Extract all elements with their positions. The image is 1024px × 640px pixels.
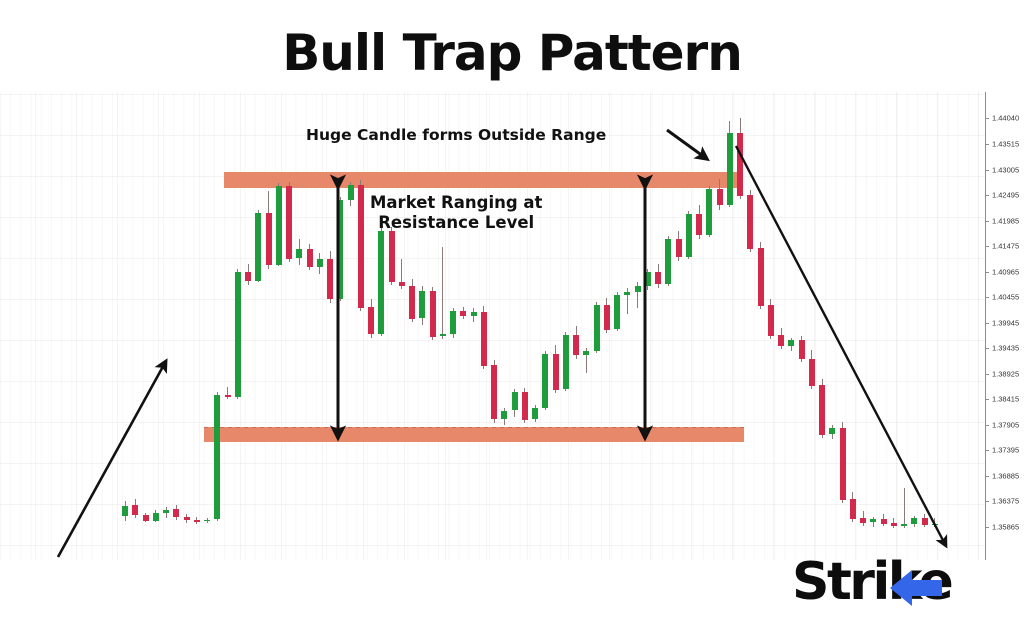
axis-tick [985, 374, 989, 375]
candlestick [419, 92, 425, 560]
axis-tick-label: 1.42495 [992, 191, 1019, 200]
candlestick [214, 92, 220, 560]
candlestick [901, 92, 907, 560]
candlestick [758, 92, 764, 560]
axis-tick-label: 1.40455 [992, 293, 1019, 302]
candlestick-chart [0, 92, 985, 560]
brand-logo[interactable]: Strike [792, 552, 992, 614]
candlestick [255, 92, 261, 560]
candlestick [573, 92, 579, 560]
candle-body-bearish [368, 307, 374, 334]
candle-body-bearish [604, 305, 610, 330]
axis-tick [985, 195, 989, 196]
candlestick [799, 92, 805, 560]
candle-body-bearish [522, 392, 528, 420]
candlestick [911, 92, 917, 560]
candlestick [153, 92, 159, 560]
candle-body-bearish [768, 305, 774, 336]
axis-tick [985, 323, 989, 324]
candle-body-bullish [624, 292, 630, 295]
candle-body-bearish [655, 272, 661, 285]
candle-body-bullish [542, 354, 548, 408]
candlestick [276, 92, 282, 560]
candlestick [624, 92, 630, 560]
candle-body-bullish [932, 524, 938, 525]
candle-body-bearish [184, 517, 190, 520]
axis-tick-label: 1.43005 [992, 165, 1019, 174]
candlestick [409, 92, 415, 560]
left-chevron-arrow-icon [882, 566, 944, 610]
candle-body-bearish [245, 272, 251, 282]
candlestick [706, 92, 712, 560]
candle-body-bearish [307, 249, 313, 268]
candle-wick [227, 387, 228, 399]
candlestick [829, 92, 835, 560]
candle-body-bearish [747, 195, 753, 249]
axis-tick [985, 221, 989, 222]
candle-body-bullish [901, 524, 907, 526]
candle-body-bearish [891, 523, 897, 526]
candle-body-bearish [491, 365, 497, 419]
candlestick [245, 92, 251, 560]
candlestick [450, 92, 456, 560]
candlestick [378, 92, 384, 560]
candle-body-bullish [788, 340, 794, 346]
candle-body-bullish [686, 214, 692, 257]
candle-body-bearish [799, 340, 805, 360]
candle-body-bearish [327, 259, 333, 300]
candlestick [594, 92, 600, 560]
candle-body-bullish [337, 200, 343, 299]
candle-body-bullish [532, 408, 538, 419]
candle-body-bullish [727, 133, 733, 205]
axis-tick [985, 118, 989, 119]
candle-body-bullish [419, 291, 425, 318]
axis-tick [985, 399, 989, 400]
axis-tick-label: 1.43515 [992, 140, 1019, 149]
candle-body-bullish [296, 249, 302, 258]
candlestick [891, 92, 897, 560]
candlestick [788, 92, 794, 560]
axis-tick-label: 1.41475 [992, 242, 1019, 251]
axis-tick [985, 144, 989, 145]
candlestick [645, 92, 651, 560]
candlestick [307, 92, 313, 560]
candle-body-bullish [317, 259, 323, 267]
candlestick [553, 92, 559, 560]
candlestick [922, 92, 928, 560]
candlestick [860, 92, 866, 560]
axis-tick [985, 425, 989, 426]
candlestick [184, 92, 190, 560]
candlestick [440, 92, 446, 560]
candlestick [676, 92, 682, 560]
candlestick [430, 92, 436, 560]
axis-tick [985, 501, 989, 502]
candlestick [563, 92, 569, 560]
candle-body-bearish [399, 282, 405, 287]
annotation-market-ranging: Market Ranging at Resistance Level [370, 193, 542, 233]
candle-body-bearish [860, 518, 866, 523]
candlestick [132, 92, 138, 560]
candlestick [881, 92, 887, 560]
candlestick [501, 92, 507, 560]
candle-body-bullish [276, 186, 282, 265]
candle-body-bearish [819, 385, 825, 435]
candlestick [348, 92, 354, 560]
candle-body-bullish [665, 239, 671, 284]
candlestick [614, 92, 620, 560]
candle-body-bearish [840, 428, 846, 500]
axis-tick [985, 450, 989, 451]
axis-tick [985, 297, 989, 298]
candle-body-bearish [143, 515, 149, 521]
candle-body-bullish [614, 295, 620, 329]
page-title: Bull Trap Pattern [0, 28, 1024, 78]
candle-body-bearish [737, 133, 743, 196]
candle-body-bearish [481, 312, 487, 366]
candlestick [840, 92, 846, 560]
candlestick [286, 92, 292, 560]
candlestick [122, 92, 128, 560]
screenshot-root: Bull Trap Pattern 1.440401.435151.430051… [0, 0, 1024, 640]
candle-body-bearish [778, 335, 784, 346]
axis-tick [985, 476, 989, 477]
axis-tick-label: 1.38415 [992, 395, 1019, 404]
axis-tick-label: 1.35865 [992, 522, 1019, 531]
candlestick [471, 92, 477, 560]
annotation-huge-candle: Huge Candle forms Outside Range [306, 126, 606, 145]
candle-wick [904, 488, 905, 528]
candlestick [870, 92, 876, 560]
candlestick [460, 92, 466, 560]
axis-tick-label: 1.39435 [992, 344, 1019, 353]
axis-tick [985, 170, 989, 171]
axis-tick-label: 1.37905 [992, 420, 1019, 429]
candle-body-bearish [225, 395, 231, 398]
candle-body-bearish [389, 231, 395, 283]
axis-tick-label: 1.44040 [992, 114, 1019, 123]
candlestick [358, 92, 364, 560]
candle-body-bearish [266, 213, 272, 266]
candle-wick [442, 247, 443, 340]
candlestick [399, 92, 405, 560]
candle-body-bearish [409, 286, 415, 319]
candle-body-bearish [922, 518, 928, 525]
candlestick [173, 92, 179, 560]
candle-body-bullish [512, 392, 518, 410]
candle-body-bullish [471, 312, 477, 316]
candle-body-bearish [809, 359, 815, 386]
candle-body-bullish [204, 520, 210, 522]
candlestick [163, 92, 169, 560]
axis-tick [985, 246, 989, 247]
candlestick [604, 92, 610, 560]
candle-body-bullish [501, 411, 507, 419]
candle-body-bullish [348, 185, 354, 200]
candlestick [850, 92, 856, 560]
candle-body-bearish [881, 519, 887, 524]
axis-tick-label: 1.36375 [992, 497, 1019, 506]
candlestick [778, 92, 784, 560]
candle-body-bullish [645, 272, 651, 286]
axis-line [985, 92, 986, 560]
axis-tick-label: 1.40965 [992, 267, 1019, 276]
candlestick [665, 92, 671, 560]
candlestick [932, 92, 938, 560]
candlestick [737, 92, 743, 560]
candlestick [194, 92, 200, 560]
candlestick [235, 92, 241, 560]
candle-body-bullish [163, 510, 169, 513]
candlestick [389, 92, 395, 560]
candle-body-bullish [153, 513, 159, 521]
candle-body-bearish [460, 311, 466, 317]
candlestick [686, 92, 692, 560]
candle-body-bearish [676, 239, 682, 258]
candle-body-bullish [635, 286, 641, 292]
candle-body-bearish [573, 335, 579, 356]
candlestick [542, 92, 548, 560]
candlestick [317, 92, 323, 560]
candle-body-bullish [583, 351, 589, 355]
candlestick [296, 92, 302, 560]
candle-body-bullish [214, 395, 220, 519]
candle-body-bearish [173, 509, 179, 517]
candle-body-bullish [440, 334, 446, 336]
candle-body-bullish [594, 305, 600, 351]
candlestick [635, 92, 641, 560]
axis-tick [985, 348, 989, 349]
candlestick [532, 92, 538, 560]
candlestick [204, 92, 210, 560]
candlestick [717, 92, 723, 560]
candle-body-bearish [696, 214, 702, 236]
axis-tick [985, 272, 989, 273]
candlestick [368, 92, 374, 560]
candle-body-bearish [758, 248, 764, 306]
candle-body-bullish [706, 189, 712, 235]
candle-body-bullish [235, 272, 241, 397]
candle-wick [934, 518, 935, 527]
candlestick [768, 92, 774, 560]
axis-tick [985, 527, 989, 528]
candlestick [522, 92, 528, 560]
price-axis: 1.440401.435151.430051.424951.419851.414… [985, 92, 1024, 560]
candlestick [481, 92, 487, 560]
candlestick [143, 92, 149, 560]
candle-body-bullish [122, 506, 128, 516]
candle-body-bearish [717, 189, 723, 206]
candlestick [225, 92, 231, 560]
axis-tick-label: 1.39945 [992, 318, 1019, 327]
candle-body-bearish [132, 505, 138, 515]
candlestick [747, 92, 753, 560]
candle-body-bearish [358, 185, 364, 308]
candlestick [809, 92, 815, 560]
candlestick [583, 92, 589, 560]
candle-body-bullish [378, 231, 384, 334]
candle-body-bullish [450, 311, 456, 334]
candle-body-bearish [194, 520, 200, 522]
candlestick [512, 92, 518, 560]
candle-body-bullish [563, 335, 569, 389]
axis-tick-label: 1.41985 [992, 216, 1019, 225]
candle-body-bearish [553, 354, 559, 390]
candlestick [491, 92, 497, 560]
candlestick [337, 92, 343, 560]
axis-tick-label: 1.38925 [992, 369, 1019, 378]
candlestick [655, 92, 661, 560]
candlestick [727, 92, 733, 560]
candlestick [696, 92, 702, 560]
axis-tick-label: 1.36885 [992, 471, 1019, 480]
candlestick [266, 92, 272, 560]
candle-body-bearish [850, 499, 856, 519]
candle-body-bullish [870, 519, 876, 522]
candle-body-bullish [829, 428, 835, 434]
candle-body-bullish [911, 518, 917, 524]
candle-body-bearish [430, 291, 436, 337]
candle-body-bullish [255, 213, 261, 281]
candlestick [327, 92, 333, 560]
axis-tick-label: 1.37395 [992, 446, 1019, 455]
candlestick [819, 92, 825, 560]
candle-body-bearish [286, 186, 292, 259]
